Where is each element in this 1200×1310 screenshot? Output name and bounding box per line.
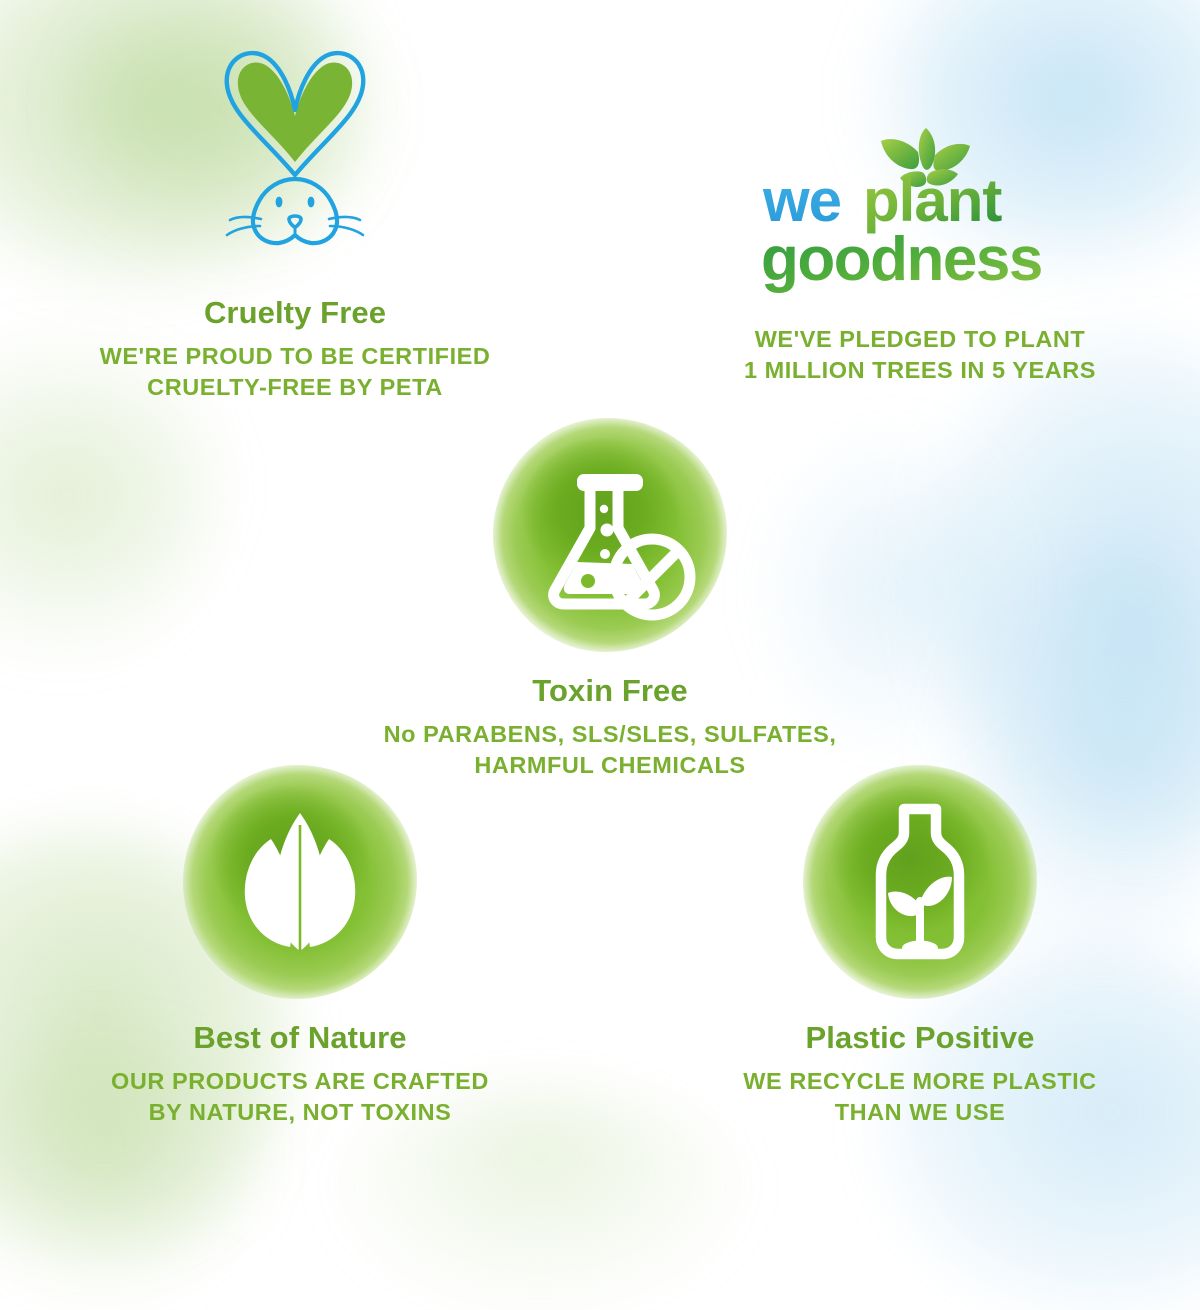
toxin-free-badge — [493, 418, 727, 652]
block-toxin-free: Toxin Free No PARABENS, SLS/SLES, SULFAT… — [340, 418, 880, 781]
block-subtext: WE'RE PROUD TO BE CERTIFIED CRUELTY-FREE… — [30, 341, 560, 403]
subtext-line: WE RECYCLE MORE PLASTIC — [680, 1066, 1160, 1097]
three-leaves-icon — [183, 765, 417, 999]
best-of-nature-badge — [183, 765, 417, 999]
subtext-line: No PARABENS, SLS/SLES, SULFATES, — [340, 719, 880, 750]
subtext-line: 1 MILLION TREES IN 5 YEARS — [660, 355, 1180, 386]
block-cruelty-free: Cruelty Free WE'RE PROUD TO BE CERTIFIED… — [30, 40, 560, 403]
peta-bunny-logo-wrap — [30, 40, 560, 280]
block-best-of-nature: Best of Nature OUR PRODUCTS ARE CRAFTED … — [35, 765, 565, 1128]
subtext-line: WE'VE PLEDGED TO PLANT — [660, 324, 1180, 355]
block-heading: Cruelty Free — [30, 296, 560, 330]
logo-text-plant: plant — [863, 167, 1002, 234]
peta-bunny-logo — [210, 44, 380, 276]
subtext-line: THAN WE USE — [680, 1097, 1160, 1128]
subtext-line: BY NATURE, NOT TOXINS — [35, 1097, 565, 1128]
block-subtext: WE'VE PLEDGED TO PLANT 1 MILLION TREES I… — [660, 324, 1180, 386]
we-plant-goodness-logo-wrap: we plant goodness — [660, 125, 1180, 300]
block-heading: Plastic Positive — [680, 1021, 1160, 1055]
we-plant-goodness-logo: we plant goodness — [755, 125, 1085, 300]
bottle-sprout-icon — [803, 765, 1037, 999]
subtext-line: CRUELTY-FREE BY PETA — [30, 372, 560, 403]
infographic-content: Cruelty Free WE'RE PROUD TO BE CERTIFIED… — [0, 0, 1200, 1200]
block-heading: Best of Nature — [35, 1021, 565, 1055]
block-we-plant-goodness: we plant goodness WE'VE PLEDGED TO PLANT… — [660, 125, 1180, 386]
plastic-positive-badge — [803, 765, 1037, 999]
block-heading: Toxin Free — [340, 674, 880, 708]
subtext-line: OUR PRODUCTS ARE CRAFTED — [35, 1066, 565, 1097]
logo-text-we: we — [762, 167, 841, 234]
block-subtext: OUR PRODUCTS ARE CRAFTED BY NATURE, NOT … — [35, 1066, 565, 1128]
block-subtext: WE RECYCLE MORE PLASTIC THAN WE USE — [680, 1066, 1160, 1128]
subtext-line: WE'RE PROUD TO BE CERTIFIED — [30, 341, 560, 372]
flask-no-toxins-icon — [493, 418, 727, 652]
logo-text-goodness: goodness — [761, 225, 1042, 294]
block-plastic-positive: Plastic Positive WE RECYCLE MORE PLASTIC… — [680, 765, 1160, 1128]
